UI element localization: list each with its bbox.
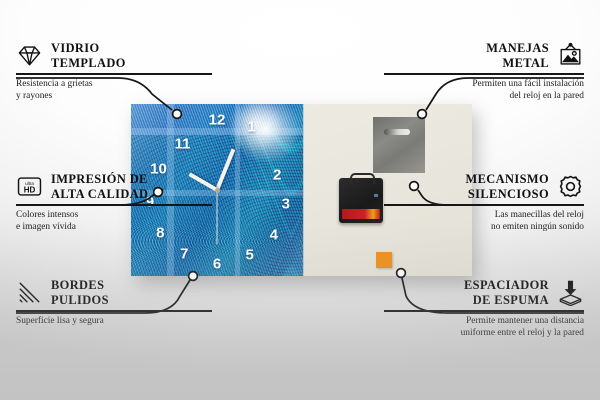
clock-numeral: 2 (273, 167, 281, 182)
diamond-icon (16, 42, 43, 69)
feature-title: MANEJAS METAL (486, 41, 549, 70)
feature-title: IMPRESIÓN DE ALTA CALIDAD (51, 172, 148, 201)
foam-spacer-icon (557, 279, 584, 306)
hanger-slot (384, 129, 410, 135)
feature-desc: Las manecillas del reloj no emiten ningú… (384, 209, 584, 234)
quartz-movement-box (339, 178, 383, 223)
feature-rule (16, 73, 212, 74)
feature-desc: Permite mantener una distancia uniforme … (384, 315, 584, 340)
clock-numeral: 12 (209, 113, 226, 128)
gear-icon (557, 173, 584, 200)
movement-loop (350, 173, 375, 184)
feature-title: BORDES PULIDOS (51, 278, 109, 307)
second-hand (217, 191, 218, 245)
feature-impresion-alta-calidad[interactable]: ultra HD IMPRESIÓN DE ALTA CALIDAD Color… (16, 172, 216, 233)
ultra-hd-icon: ultra HD (16, 173, 43, 200)
feature-rule (384, 73, 584, 74)
clock-numeral: 11 (175, 136, 191, 151)
feature-desc: Permiten una fácil instalación del reloj… (384, 78, 584, 103)
metal-hanger-plate (373, 117, 425, 173)
feature-bordes-pulidos[interactable]: BORDES PULIDOS Superficie lisa y segura (16, 278, 216, 327)
battery-label (342, 209, 380, 219)
feature-espaciador-espuma[interactable]: ESPACIADOR DE ESPUMA Permite mantener un… (384, 278, 584, 339)
movement-marking (374, 194, 378, 197)
feature-desc: Colores intensos e imagen vívida (16, 209, 216, 234)
clock-numeral: 5 (246, 248, 254, 263)
picture-hanger-icon (557, 42, 584, 69)
feature-desc: Superficie lisa y segura (16, 315, 216, 327)
feature-mecanismo-silencioso[interactable]: MECANISMO SILENCIOSO Las manecillas del … (384, 172, 584, 233)
clock-numeral: 1 (247, 120, 255, 135)
feature-rule (16, 204, 212, 205)
feature-manejas-metal[interactable]: MANEJAS METAL Permiten una fácil instala… (384, 41, 584, 102)
polished-edge-icon (16, 279, 43, 306)
clock-numeral: 4 (270, 227, 278, 242)
feature-desc: Resistencia a grietas y rayones (16, 78, 216, 103)
orange-foam-spacer (376, 252, 392, 268)
svg-text:HD: HD (24, 186, 36, 195)
clock-numeral: 3 (282, 196, 290, 211)
feature-rule (384, 204, 584, 205)
feature-rule (16, 310, 212, 311)
feature-rule (384, 310, 584, 311)
clock-numeral: 7 (180, 246, 188, 261)
feature-vidrio-templado[interactable]: VIDRIO TEMPLADO Resistencia a grietas y … (16, 41, 216, 102)
feature-title: MECANISMO SILENCIOSO (466, 172, 549, 201)
infographic-canvas: 12 1 2 3 4 5 6 7 8 9 10 11 (0, 0, 600, 400)
feature-title: VIDRIO TEMPLADO (51, 41, 126, 70)
feature-title: ESPACIADOR DE ESPUMA (464, 278, 549, 307)
clock-numeral: 6 (213, 256, 221, 271)
